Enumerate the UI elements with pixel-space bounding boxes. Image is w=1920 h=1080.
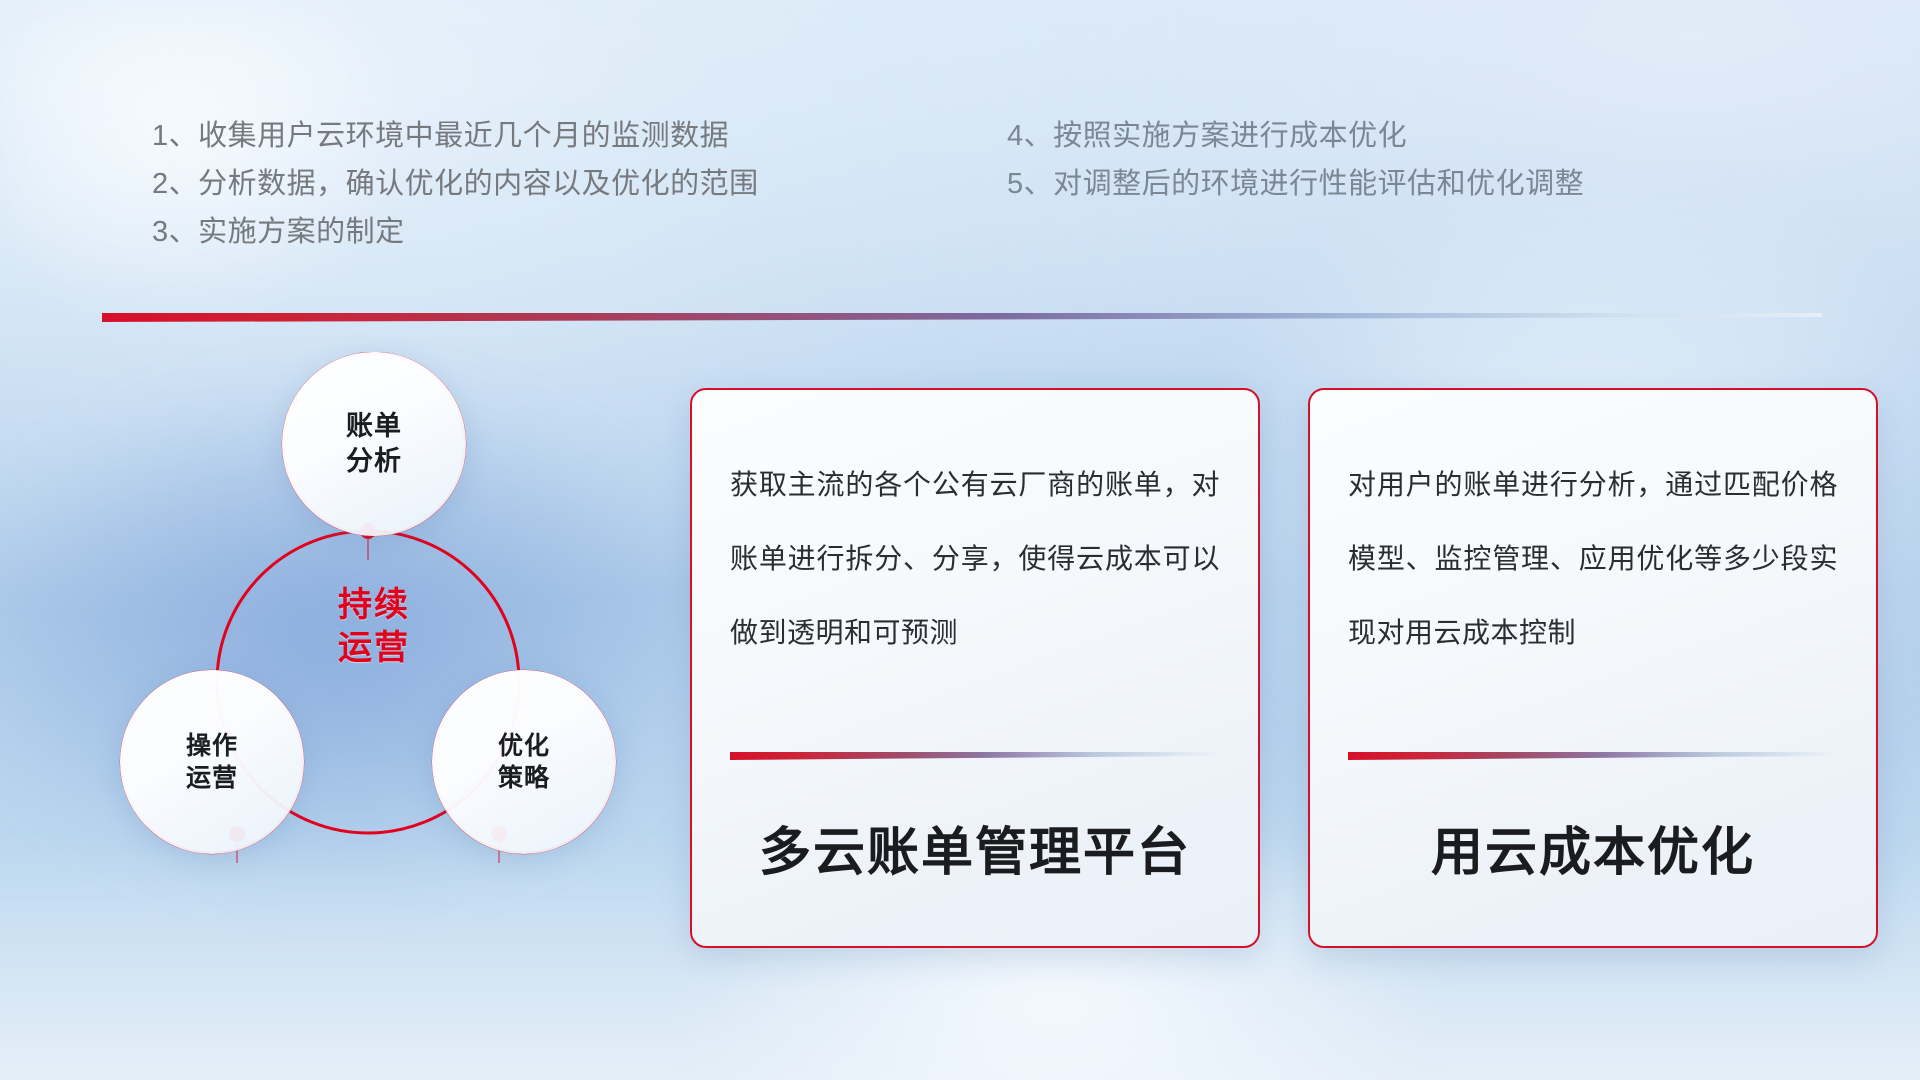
venn-center-line-1: 持续 <box>282 584 466 627</box>
feature-card-cloud-cost-optimization[interactable]: 对用户的账单进行分析，通过匹配价格模型、监控管理、应用优化等多少段实现对用云成本… <box>1308 388 1878 948</box>
venn-bubble-operations[interactable]: 操作 运营 <box>120 670 304 854</box>
card-body-text: 对用户的账单进行分析，通过匹配价格模型、监控管理、应用优化等多少段实现对用云成本… <box>1348 448 1838 670</box>
step-item-5: 5、对调整后的环境进行性能评估和优化调整 <box>1007 160 1787 208</box>
venn-bubble-optimization-strategy[interactable]: 优化 策略 <box>432 670 616 854</box>
venn-bubble-line-1: 账单 <box>346 409 402 444</box>
divider-gradient-bar <box>102 313 1822 322</box>
venn-bubble-line-2: 运营 <box>186 762 238 794</box>
venn-bubble-billing-analysis[interactable]: 账单 分析 <box>282 352 466 536</box>
card-title: 多云账单管理平台 <box>692 810 1258 885</box>
step-item-3: 3、实施方案的制定 <box>152 208 912 256</box>
venn-center-label: 持续 运营 <box>282 584 466 670</box>
venn-center-line-2: 运营 <box>282 627 466 670</box>
card-title: 用云成本优化 <box>1310 810 1876 885</box>
venn-bubble-line-1: 优化 <box>498 730 550 762</box>
card-divider <box>730 752 1220 760</box>
venn-bubble-line-1: 操作 <box>186 730 238 762</box>
step-item-1: 1、收集用户云环境中最近几个月的监测数据 <box>152 112 912 160</box>
card-divider-gradient-bar <box>1348 752 1838 760</box>
venn-bubble-line-2: 分析 <box>346 444 402 479</box>
card-divider <box>1348 752 1838 760</box>
step-item-4: 4、按照实施方案进行成本优化 <box>1007 112 1787 160</box>
venn-diagram: 账单 分析 操作 运营 优化 策略 持续 运营 <box>96 352 636 952</box>
slide-canvas: 1、收集用户云环境中最近几个月的监测数据 2、分析数据，确认优化的内容以及优化的… <box>0 0 1920 1080</box>
feature-card-multicloud-billing[interactable]: 获取主流的各个公有云厂商的账单，对账单进行拆分、分享，使得云成本可以做到透明和可… <box>690 388 1260 948</box>
card-divider-gradient-bar <box>730 752 1220 760</box>
step-item-2: 2、分析数据，确认优化的内容以及优化的范围 <box>152 160 912 208</box>
venn-bubble-line-2: 策略 <box>498 762 550 794</box>
section-divider <box>102 313 1822 322</box>
steps-column-left: 1、收集用户云环境中最近几个月的监测数据 2、分析数据，确认优化的内容以及优化的… <box>152 112 912 256</box>
card-body-text: 获取主流的各个公有云厂商的账单，对账单进行拆分、分享，使得云成本可以做到透明和可… <box>730 448 1220 670</box>
steps-column-right: 4、按照实施方案进行成本优化 5、对调整后的环境进行性能评估和优化调整 <box>1007 112 1787 208</box>
